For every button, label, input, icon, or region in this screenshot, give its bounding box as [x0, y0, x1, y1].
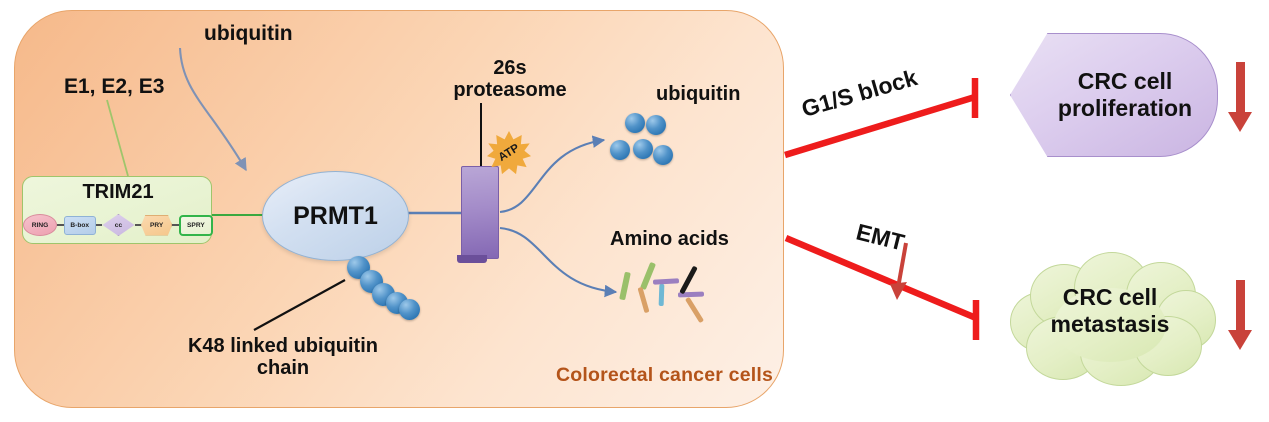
proliferation-down-arrow — [1228, 62, 1252, 132]
amino-acid-dash — [659, 284, 665, 306]
domain-pry-label: PRY — [150, 222, 163, 229]
emt-down-arrow-head — [890, 282, 907, 300]
arrow-shaft — [1236, 62, 1245, 112]
domain-connector — [135, 224, 142, 226]
domain-cc-label: cc — [115, 222, 122, 229]
diagram-canvas: ubiquitin E1, E2, E3 26s proteasome ubiq… — [0, 0, 1269, 422]
domain-spry: SPRY — [179, 215, 213, 236]
prmt1-protein: PRMT1 — [262, 171, 409, 261]
released-ubiquitin-sphere — [633, 139, 653, 159]
metastasis-down-arrow — [1228, 280, 1252, 350]
released-ubiquitin-sphere — [653, 145, 673, 165]
g1s-block-label: G1/S block — [799, 64, 921, 123]
arrow-head — [1228, 112, 1252, 132]
ubiquitin-top-label: ubiquitin — [204, 22, 293, 46]
atp-label: ATP — [496, 142, 521, 164]
domain-bbox: B-box — [64, 216, 96, 235]
crc-metastasis-text: CRC cell metastasis — [1004, 284, 1216, 337]
proteasome-base — [457, 255, 487, 263]
ubiquitin-released-label: ubiquitin — [656, 83, 740, 105]
emt-label: EMT — [853, 219, 907, 257]
trim21-box: TRIM21 RING B-box cc PRY SPRY — [22, 176, 212, 244]
trim21-title: TRIM21 — [23, 181, 213, 204]
domain-ring: RING — [23, 214, 57, 236]
released-ubiquitin-sphere — [610, 140, 630, 160]
k48-ubiquitin-sphere — [399, 299, 420, 320]
arrow-shaft — [1236, 280, 1245, 330]
domain-connector — [96, 224, 103, 226]
domain-pry: PRY — [141, 215, 172, 236]
crc-metastasis-shape: CRC cell metastasis — [1004, 248, 1216, 388]
domain-connector — [57, 224, 64, 226]
amino-acids-label: Amino acids — [610, 228, 729, 250]
proteasome-label: 26s proteasome — [445, 57, 575, 102]
enzymes-label: E1, E2, E3 — [64, 75, 164, 99]
released-ubiquitin-sphere — [625, 113, 645, 133]
arrow-head — [1228, 330, 1252, 350]
domain-connector — [172, 224, 179, 226]
k48-chain-label: K48 linked ubiquitin chain — [178, 335, 388, 380]
proteasome-body — [461, 166, 499, 259]
cell-type-label: Colorectal cancer cells — [556, 364, 773, 387]
released-ubiquitin-sphere — [646, 115, 666, 135]
trim21-domain-row: RING B-box cc PRY SPRY — [23, 211, 213, 239]
crc-proliferation-shape: CRC cell proliferation — [1010, 33, 1218, 157]
domain-cc: cc — [102, 214, 134, 236]
crc-proliferation-text: CRC cell proliferation — [1011, 68, 1217, 121]
